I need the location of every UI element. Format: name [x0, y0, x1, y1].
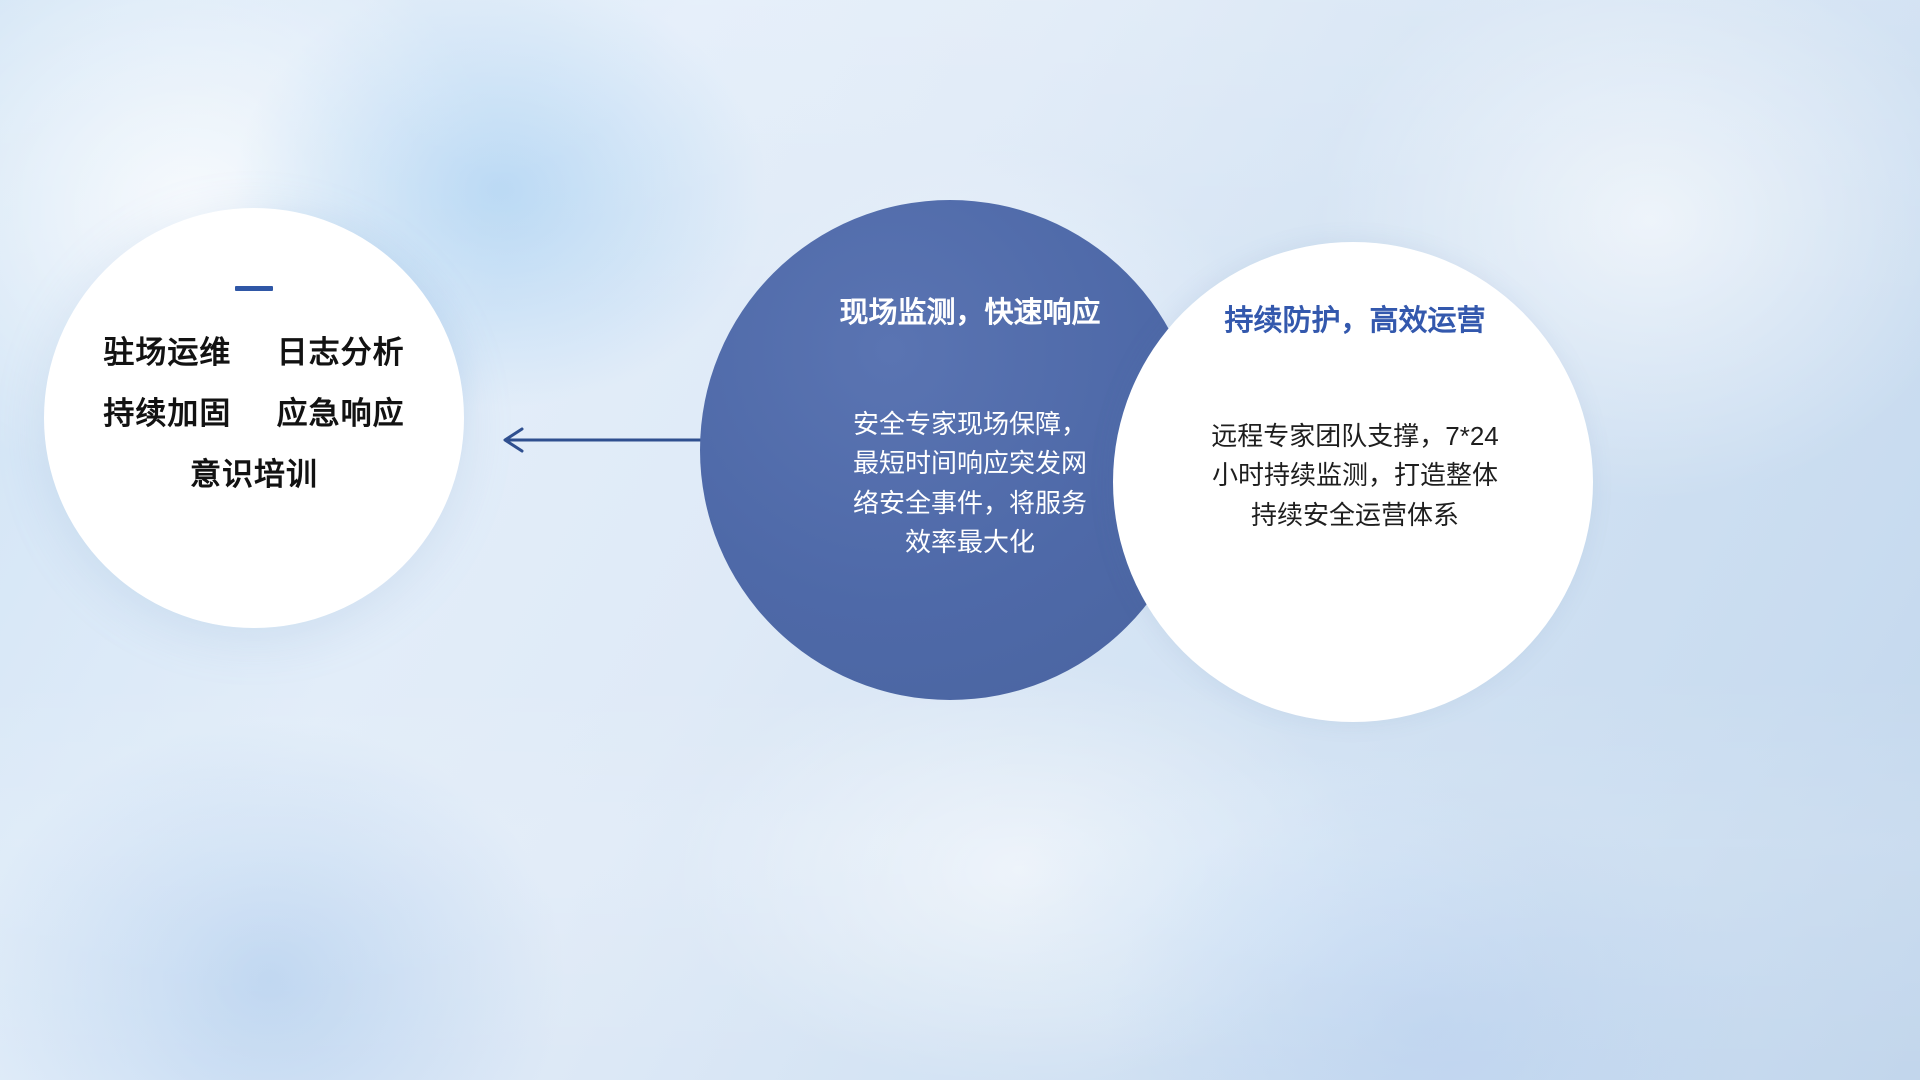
keyword-zhuchangyunwei: 驻场运维 [103, 335, 231, 370]
background-glow-bottom-left [0, 620, 680, 1080]
onsite-monitoring-body: 安全专家现场保障， 最短时间响应突发网 络安全事件，将服务 效率最大化 [776, 405, 1164, 563]
background-glow-bottom-right [980, 680, 1880, 1080]
slide-canvas: 驻场运维 日志分析 持续加固 应急响应 意识培训 现场监测，快速响应 安全专家现… [0, 0, 1920, 1080]
body-line: 小时持续监测，打造整体 [1147, 456, 1563, 496]
keyword-rizhifenxi: 日志分析 [277, 335, 405, 370]
background-glow-bottom-right-soft [900, 680, 1660, 1080]
body-line: 最短时间响应突发网 [776, 444, 1164, 484]
keyword-chixujiagu: 持续加固 [103, 396, 231, 431]
keyword-row-1: 驻场运维 日志分析 [68, 337, 440, 368]
onsite-monitoring-content: 现场监测，快速响应 安全专家现场保障， 最短时间响应突发网 络安全事件，将服务 … [776, 296, 1164, 563]
divider-dash [235, 286, 273, 291]
body-line: 远程专家团队支撑，7*24 [1147, 417, 1563, 457]
continuous-protection-body: 远程专家团队支撑，7*24 小时持续监测，打造整体 持续安全运营体系 [1147, 417, 1563, 536]
body-line: 效率最大化 [776, 523, 1164, 563]
onsite-monitoring-title: 现场监测，快速响应 [776, 296, 1164, 331]
capabilities-circle[interactable]: 驻场运维 日志分析 持续加固 应急响应 意识培训 [44, 208, 464, 628]
continuous-protection-title: 持续防护，高效运营 [1147, 304, 1563, 339]
continuous-protection-content: 持续防护，高效运营 远程专家团队支撑，7*24 小时持续监测，打造整体 持续安全… [1147, 304, 1563, 535]
keyword-row-3: 意识培训 [68, 459, 440, 490]
body-line: 络安全事件，将服务 [776, 484, 1164, 524]
keyword-row-2: 持续加固 应急响应 [68, 398, 440, 429]
body-line: 持续安全运营体系 [1147, 496, 1563, 536]
capabilities-content: 驻场运维 日志分析 持续加固 应急响应 意识培训 [44, 286, 464, 490]
keyword-yingjixiangying: 应急响应 [277, 396, 405, 431]
continuous-protection-circle[interactable]: 持续防护，高效运营 远程专家团队支撑，7*24 小时持续监测，打造整体 持续安全… [1113, 242, 1593, 722]
keyword-yishipeixun: 意识培训 [190, 457, 318, 492]
body-line: 安全专家现场保障， [776, 405, 1164, 445]
